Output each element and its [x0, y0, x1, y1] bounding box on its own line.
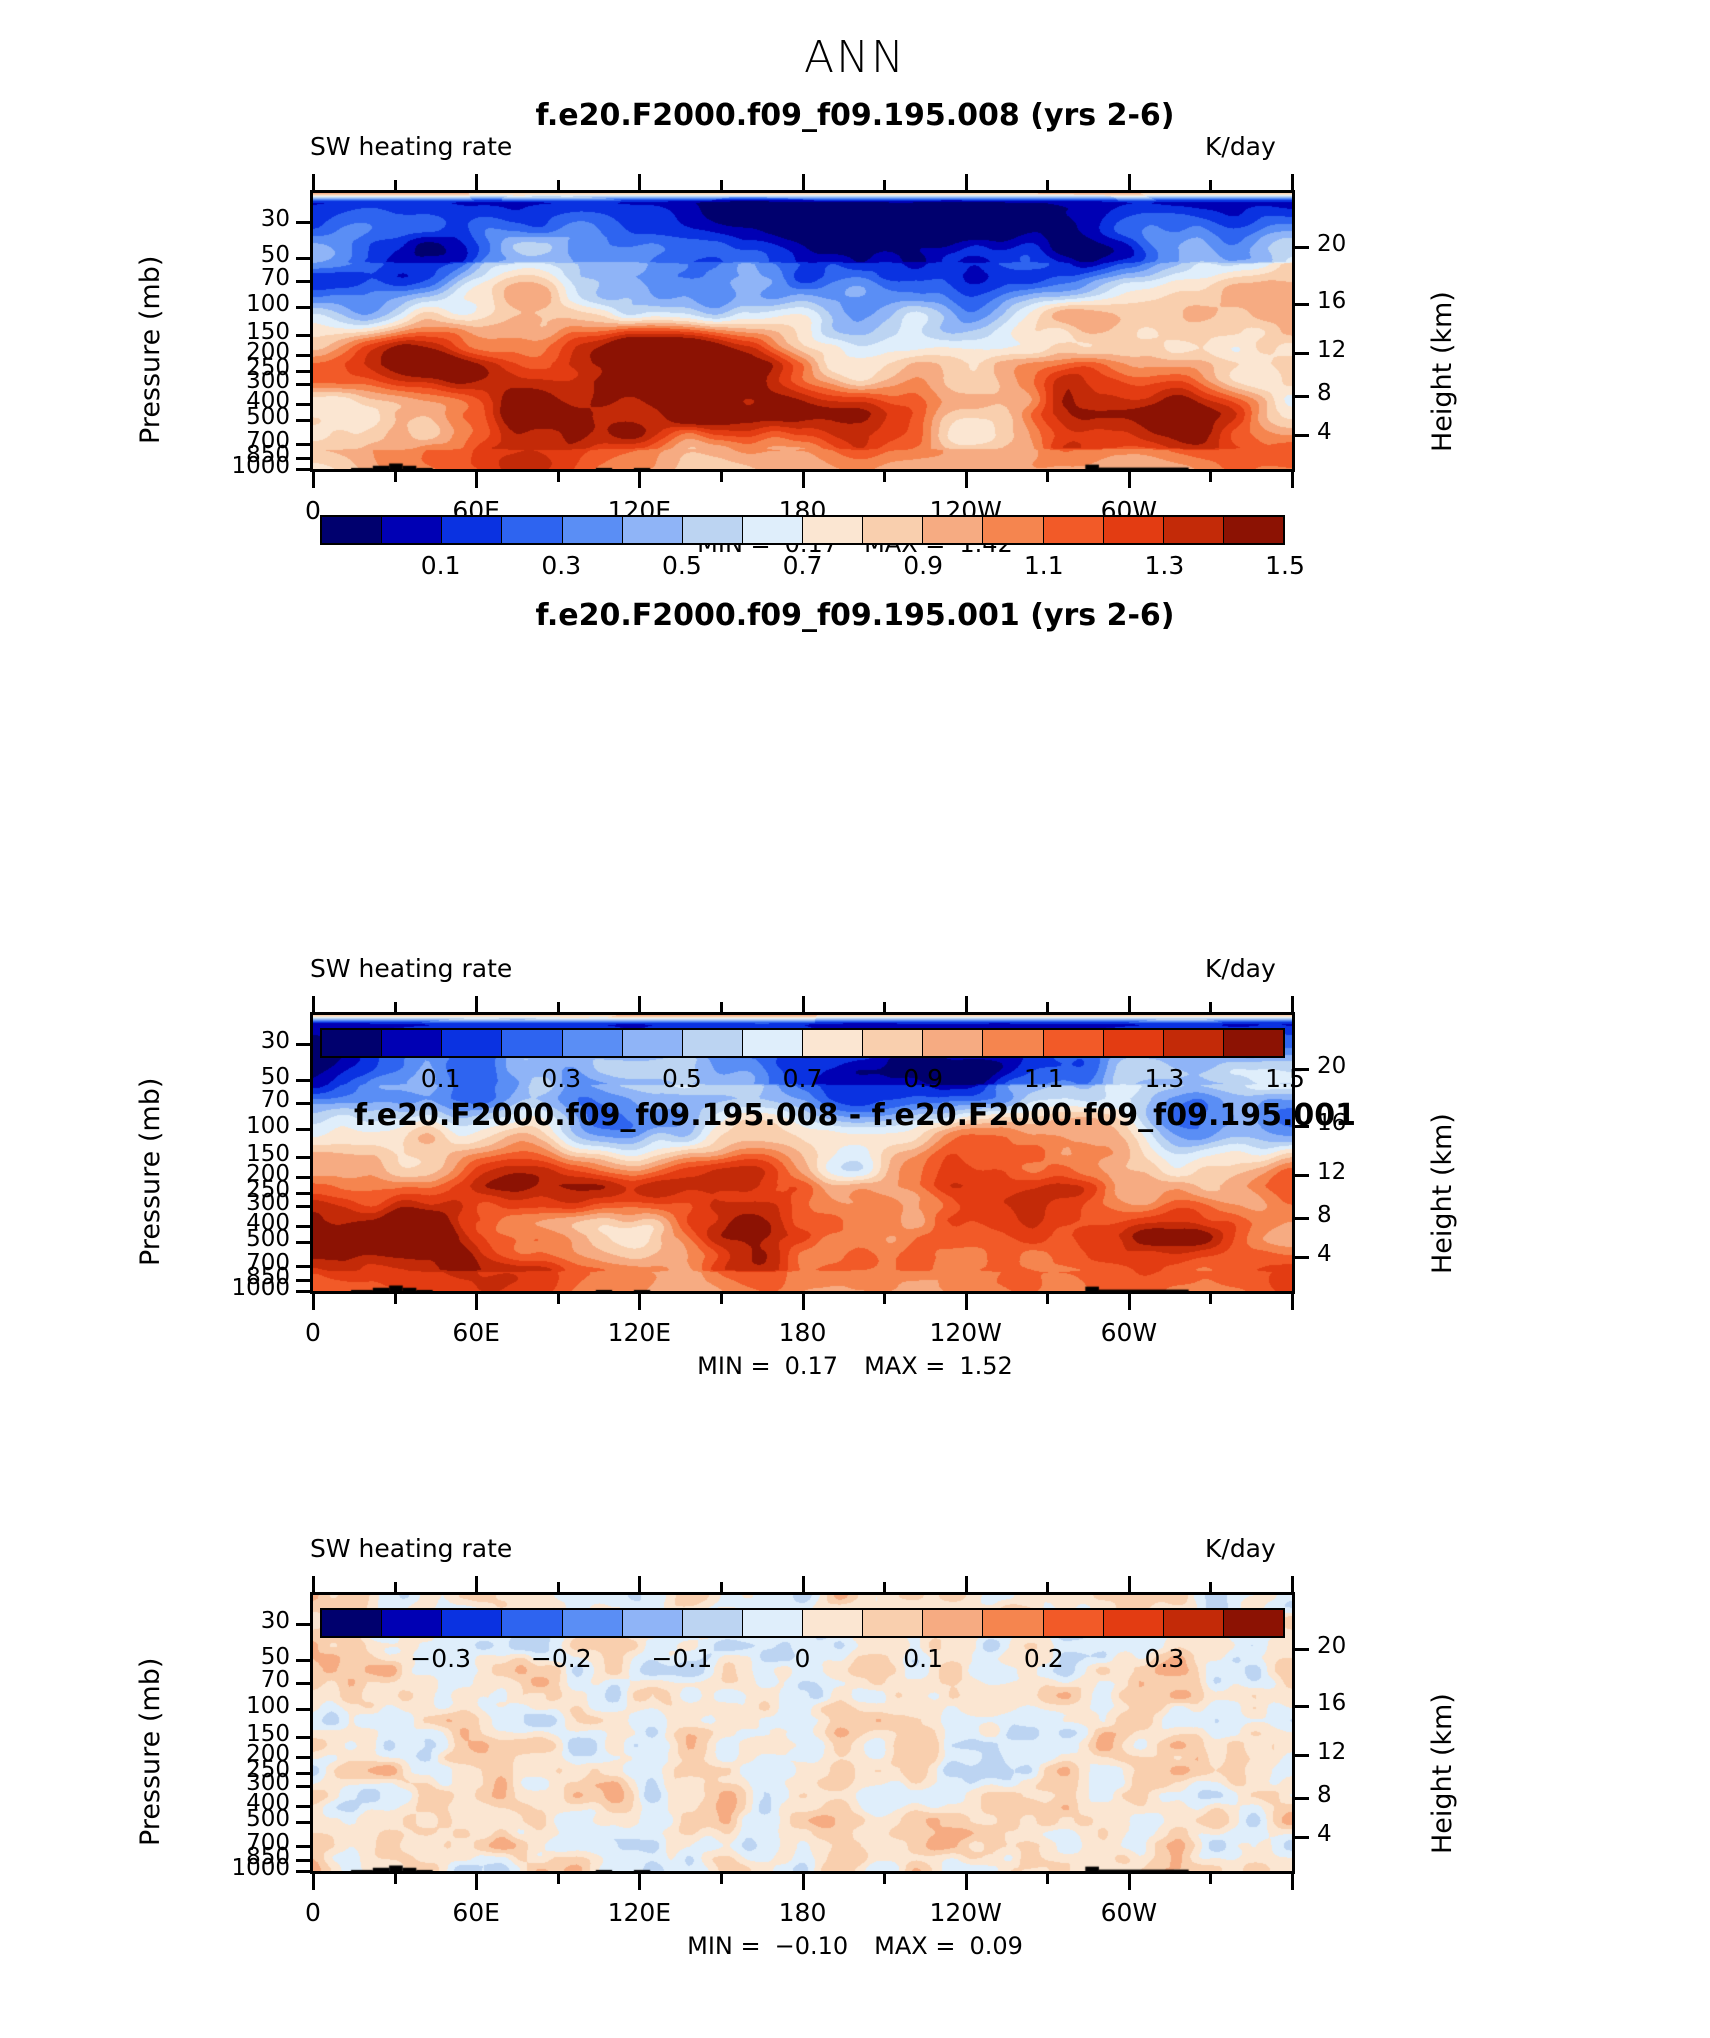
colorbar-swatch: [322, 517, 382, 543]
pressure-tick-label: 50: [160, 1064, 290, 1090]
colorbar-swatch: [1164, 517, 1224, 543]
x-tick-top: [720, 1002, 723, 1012]
height-tick: [1295, 246, 1309, 249]
x-tick-top: [720, 180, 723, 190]
x-tick-bottom: [312, 1874, 315, 1890]
height-tick-label: 8: [1317, 380, 1332, 406]
height-tick: [1295, 395, 1309, 398]
colorbar-tick-label: 0: [743, 1644, 863, 1673]
longitude-tick-label: 60W: [1059, 1318, 1199, 1347]
colorbar-swatch: [382, 517, 442, 543]
height-axis-title: Height (km): [1427, 1113, 1458, 1274]
x-tick-top: [720, 1582, 723, 1592]
colorbar-swatch: [1164, 1030, 1224, 1056]
pressure-tick-label: 1000: [160, 1275, 290, 1301]
x-tick-bottom: [1128, 1874, 1131, 1890]
x-tick-bottom: [638, 1294, 641, 1310]
x-tick-top: [312, 174, 315, 190]
x-tick-top: [802, 174, 805, 190]
colorbar-swatch: [1164, 1610, 1224, 1636]
colorbar-tick-label: −0.1: [622, 1644, 742, 1673]
colorbar-tick-label: 0.5: [622, 1064, 742, 1093]
pressure-tick: [296, 419, 310, 422]
colorbar-swatch: [563, 517, 623, 543]
longitude-tick-label: 120W: [896, 1898, 1036, 1927]
pressure-tick: [296, 1623, 310, 1626]
x-tick-bottom: [1128, 472, 1131, 488]
height-tick-label: 12: [1317, 337, 1346, 363]
x-tick-top: [1046, 180, 1049, 190]
pressure-tick: [296, 1241, 310, 1244]
max-value: 1.52: [959, 1352, 1012, 1380]
pressure-tick: [296, 1225, 310, 1228]
x-tick-bottom: [720, 472, 723, 482]
pressure-tick: [296, 1870, 310, 1873]
height-tick: [1295, 1705, 1309, 1708]
colorbar-swatch: [382, 1030, 442, 1056]
x-tick-bottom: [475, 1874, 478, 1890]
colorbar-tick-label: 1.1: [984, 551, 1104, 580]
colorbar-tick-label: 1.1: [984, 1064, 1104, 1093]
colorbar-swatch: [923, 1030, 983, 1056]
pressure-tick: [296, 383, 310, 386]
pressure-tick: [296, 1736, 310, 1739]
colorbar-swatch: [983, 517, 1043, 543]
colorbar-tick-label: 0.2: [984, 1644, 1104, 1673]
pressure-tick-label: 30: [160, 1608, 290, 1634]
x-tick-top: [638, 174, 641, 190]
variable-label: SW heating rate: [310, 132, 512, 161]
colorbar-tick-label: 1.3: [1104, 1064, 1224, 1093]
pressure-tick: [296, 1205, 310, 1208]
longitude-tick-label: 180: [733, 1898, 873, 1927]
pressure-tick: [296, 1805, 310, 1808]
x-tick-top: [883, 1002, 886, 1012]
colorbar-swatch: [502, 1610, 562, 1636]
x-tick-top: [557, 1582, 560, 1592]
units-label: K/day: [1205, 132, 1276, 161]
x-tick-bottom: [883, 1294, 886, 1304]
pressure-tick: [296, 1859, 310, 1862]
x-tick-bottom: [638, 472, 641, 488]
max-label: MAX =: [874, 1932, 955, 1960]
pressure-axis-title: Pressure (mb): [135, 256, 166, 444]
colorbar[interactable]: [320, 1608, 1285, 1638]
panel-title: f.e20.F2000.f09_f09.195.008 (yrs 2-6): [0, 98, 1710, 133]
contour-canvas: [313, 193, 1292, 469]
x-tick-bottom: [475, 1294, 478, 1310]
x-tick-top: [557, 1002, 560, 1012]
x-tick-bottom: [883, 1874, 886, 1884]
x-tick-top: [394, 1002, 397, 1012]
height-tick: [1295, 1256, 1309, 1259]
x-tick-bottom: [883, 472, 886, 482]
max-value: 0.09: [969, 1932, 1022, 1960]
longitude-tick-label: 120E: [569, 1898, 709, 1927]
colorbar-tick-label: 0.5: [622, 551, 742, 580]
figure-suptitle: ANN: [0, 32, 1710, 83]
height-tick: [1295, 352, 1309, 355]
pressure-tick-label: 30: [160, 206, 290, 232]
x-tick-top: [1291, 996, 1294, 1012]
colorbar-swatch: [1044, 1610, 1104, 1636]
pressure-tick: [296, 1290, 310, 1293]
colorbar-swatch: [923, 1610, 983, 1636]
x-tick-top: [1291, 1576, 1294, 1592]
x-tick-top: [802, 1576, 805, 1592]
x-tick-top: [1046, 1002, 1049, 1012]
panel-case-008-plot-area: [310, 190, 1295, 472]
colorbar-swatch: [863, 1610, 923, 1636]
height-tick-label: 20: [1317, 231, 1346, 257]
longitude-tick-label: 0: [243, 1898, 383, 1927]
pressure-tick: [296, 457, 310, 460]
pressure-tick-label: 50: [160, 242, 290, 268]
colorbar-tick-label: 0.1: [381, 551, 501, 580]
height-tick-label: 4: [1317, 1821, 1332, 1847]
units-label: K/day: [1205, 1534, 1276, 1563]
colorbar-swatch: [743, 517, 803, 543]
colorbar-swatch: [1044, 1030, 1104, 1056]
height-tick-label: 12: [1317, 1159, 1346, 1185]
height-tick-label: 4: [1317, 419, 1332, 445]
x-tick-bottom: [312, 1294, 315, 1310]
x-tick-top: [965, 1576, 968, 1592]
colorbar-tick-label: 0.3: [501, 551, 621, 580]
x-tick-bottom: [1291, 1294, 1294, 1310]
colorbar-swatch: [563, 1610, 623, 1636]
x-tick-bottom: [1128, 1294, 1131, 1310]
x-tick-bottom: [965, 1294, 968, 1310]
x-tick-top: [475, 996, 478, 1012]
pressure-tick: [296, 468, 310, 471]
colorbar-swatch: [683, 517, 743, 543]
colorbar-swatch: [683, 1030, 743, 1056]
x-tick-bottom: [802, 1294, 805, 1310]
pressure-tick-label: 500: [160, 404, 290, 430]
pressure-axis-title: Pressure (mb): [135, 1658, 166, 1846]
pressure-tick: [296, 280, 310, 283]
x-tick-top: [394, 1582, 397, 1592]
x-tick-top: [638, 1576, 641, 1592]
pressure-tick: [296, 1079, 310, 1082]
pressure-tick: [296, 221, 310, 224]
x-tick-bottom: [1209, 1294, 1212, 1304]
pressure-tick-label: 30: [160, 1028, 290, 1054]
x-tick-top: [1209, 1002, 1212, 1012]
colorbar-swatch: [322, 1610, 382, 1636]
x-tick-top: [1209, 180, 1212, 190]
x-tick-bottom: [312, 472, 315, 488]
x-tick-top: [965, 174, 968, 190]
colorbar-swatch: [563, 1030, 623, 1056]
x-tick-top: [1128, 174, 1131, 190]
longitude-tick-label: 60E: [406, 1898, 546, 1927]
x-tick-bottom: [965, 1874, 968, 1890]
longitude-tick-label: 60W: [1059, 1898, 1199, 1927]
x-tick-bottom: [394, 1294, 397, 1304]
height-tick-label: 20: [1317, 1633, 1346, 1659]
colorbar-swatch: [442, 1610, 502, 1636]
colorbar-swatch: [502, 517, 562, 543]
min-label: MIN =: [697, 1352, 770, 1380]
height-tick: [1295, 434, 1309, 437]
colorbar[interactable]: [320, 515, 1285, 545]
x-tick-top: [883, 1582, 886, 1592]
pressure-tick: [296, 1192, 310, 1195]
colorbar-tick-label: 0.9: [863, 551, 983, 580]
height-axis-title: Height (km): [1427, 291, 1458, 452]
colorbar-swatch: [923, 517, 983, 543]
colorbar-tick-label: 0.3: [501, 1064, 621, 1093]
pressure-tick: [296, 1156, 310, 1159]
longitude-tick-label: 180: [733, 1318, 873, 1347]
x-tick-bottom: [1046, 1294, 1049, 1304]
x-tick-bottom: [802, 1874, 805, 1890]
colorbar-tick-label: 0.7: [743, 551, 863, 580]
panel-title: f.e20.F2000.f09_f09.195.001 (yrs 2-6): [0, 598, 1710, 633]
height-tick-label: 12: [1317, 1739, 1346, 1765]
x-tick-bottom: [475, 472, 478, 488]
pressure-tick: [296, 1682, 310, 1685]
min-label: MIN =: [687, 1932, 760, 1960]
figure-root: ANN f.e20.F2000.f09_f09.195.008 (yrs 2-6…: [0, 0, 1710, 2038]
pressure-tick-label: 50: [160, 1644, 290, 1670]
colorbar-tick-label: −0.3: [381, 1644, 501, 1673]
colorbar-tick-label: −0.2: [501, 1644, 621, 1673]
colorbar-tick-label: 1.5: [1225, 551, 1345, 580]
height-tick: [1295, 1174, 1309, 1177]
height-tick: [1295, 1797, 1309, 1800]
height-tick-label: 8: [1317, 1782, 1332, 1808]
colorbar-swatch: [743, 1610, 803, 1636]
colorbar-swatch: [442, 517, 502, 543]
x-tick-bottom: [638, 1874, 641, 1890]
pressure-tick: [296, 370, 310, 373]
longitude-tick-label: 60E: [406, 1318, 546, 1347]
pressure-tick-label: 1000: [160, 1855, 290, 1881]
colorbar-swatch: [1224, 517, 1283, 543]
x-tick-top: [1209, 1582, 1212, 1592]
panel-title: f.e20.F2000.f09_f09.195.008 - f.e20.F200…: [0, 1098, 1710, 1133]
pressure-tick: [296, 1265, 310, 1268]
height-tick: [1295, 1217, 1309, 1220]
colorbar-tick-label: 0.7: [743, 1064, 863, 1093]
x-tick-bottom: [557, 1294, 560, 1304]
min-value: −0.10: [775, 1932, 849, 1960]
colorbar-tick-label: 0.9: [863, 1064, 983, 1093]
pressure-tick: [296, 1279, 310, 1282]
pressure-tick-label: 70: [160, 265, 290, 291]
x-tick-top: [475, 1576, 478, 1592]
colorbar-tick-label: 0.3: [1104, 1644, 1224, 1673]
colorbar-swatch: [1224, 1610, 1283, 1636]
x-tick-top: [312, 996, 315, 1012]
variable-label: SW heating rate: [310, 954, 512, 983]
pressure-tick: [296, 1821, 310, 1824]
x-tick-bottom: [1291, 1874, 1294, 1890]
longitude-tick-label: 0: [243, 1318, 383, 1347]
height-tick-label: 8: [1317, 1202, 1332, 1228]
pressure-tick: [296, 1176, 310, 1179]
x-tick-top: [883, 180, 886, 190]
pressure-tick: [296, 334, 310, 337]
x-tick-top: [1128, 996, 1131, 1012]
pressure-tick: [296, 306, 310, 309]
pressure-tick-label: 500: [160, 1226, 290, 1252]
x-tick-bottom: [394, 1874, 397, 1884]
x-tick-bottom: [394, 472, 397, 482]
x-tick-top: [638, 996, 641, 1012]
colorbar-swatch: [1104, 517, 1164, 543]
pressure-tick-label: 100: [160, 1693, 290, 1719]
pressure-tick: [296, 1756, 310, 1759]
height-tick: [1295, 1648, 1309, 1651]
x-tick-bottom: [557, 472, 560, 482]
x-tick-bottom: [557, 1874, 560, 1884]
x-tick-bottom: [802, 472, 805, 488]
height-tick: [1295, 1836, 1309, 1839]
colorbar-swatch: [502, 1030, 562, 1056]
colorbar-swatch: [1044, 517, 1104, 543]
x-tick-bottom: [1291, 472, 1294, 488]
x-tick-top: [394, 180, 397, 190]
pressure-tick-label: 500: [160, 1806, 290, 1832]
x-tick-top: [1046, 1582, 1049, 1592]
pressure-tick: [296, 1845, 310, 1848]
x-tick-top: [802, 996, 805, 1012]
min-max-annotation: MIN =−0.10MAX =0.09: [0, 1932, 1710, 1960]
x-tick-bottom: [720, 1294, 723, 1304]
colorbar-swatch: [983, 1030, 1043, 1056]
colorbar-tick-label: 1.5: [1225, 1064, 1345, 1093]
height-tick: [1295, 303, 1309, 306]
pressure-tick: [296, 403, 310, 406]
x-tick-top: [965, 996, 968, 1012]
colorbar[interactable]: [320, 1028, 1285, 1058]
pressure-tick: [296, 1708, 310, 1711]
x-tick-top: [1128, 1576, 1131, 1592]
pressure-tick: [296, 257, 310, 260]
colorbar-swatch: [983, 1610, 1043, 1636]
colorbar-swatch: [683, 1610, 743, 1636]
colorbar-swatch: [623, 517, 683, 543]
pressure-tick: [296, 1772, 310, 1775]
min-value: 0.17: [785, 1352, 838, 1380]
colorbar-swatch: [322, 1030, 382, 1056]
colorbar-swatch: [623, 1610, 683, 1636]
x-tick-top: [1291, 174, 1294, 190]
longitude-tick-label: 120E: [569, 1318, 709, 1347]
colorbar-swatch: [863, 1030, 923, 1056]
x-tick-top: [557, 180, 560, 190]
colorbar-swatch: [1104, 1610, 1164, 1636]
colorbar-tick-label: 1.3: [1104, 551, 1224, 580]
height-axis-title: Height (km): [1427, 1693, 1458, 1854]
pressure-tick: [296, 443, 310, 446]
min-max-annotation: MIN =0.17MAX =1.52: [0, 1352, 1710, 1380]
colorbar-swatch: [442, 1030, 502, 1056]
pressure-tick: [296, 1043, 310, 1046]
colorbar-swatch: [1104, 1030, 1164, 1056]
pressure-tick: [296, 1785, 310, 1788]
pressure-tick-label: 1000: [160, 453, 290, 479]
x-tick-bottom: [965, 472, 968, 488]
height-tick-label: 16: [1317, 288, 1346, 314]
max-label: MAX =: [864, 1352, 945, 1380]
x-tick-bottom: [1046, 472, 1049, 482]
variable-label: SW heating rate: [310, 1534, 512, 1563]
colorbar-swatch: [1224, 1030, 1283, 1056]
x-tick-bottom: [1046, 1874, 1049, 1884]
height-tick: [1295, 1754, 1309, 1757]
height-tick-label: 16: [1317, 1690, 1346, 1716]
colorbar-swatch: [863, 517, 923, 543]
colorbar-swatch: [803, 1610, 863, 1636]
colorbar-swatch: [803, 517, 863, 543]
longitude-tick-label: 120W: [896, 1318, 1036, 1347]
colorbar-swatch: [382, 1610, 442, 1636]
colorbar-swatch: [803, 1030, 863, 1056]
units-label: K/day: [1205, 954, 1276, 983]
pressure-tick: [296, 354, 310, 357]
x-tick-top: [312, 1576, 315, 1592]
x-tick-bottom: [1209, 1874, 1212, 1884]
colorbar-tick-label: 0.1: [381, 1064, 501, 1093]
x-tick-top: [475, 174, 478, 190]
x-tick-bottom: [1209, 472, 1212, 482]
colorbar-tick-label: 0.1: [863, 1644, 983, 1673]
pressure-tick-label: 100: [160, 291, 290, 317]
x-tick-bottom: [720, 1874, 723, 1884]
height-tick-label: 4: [1317, 1241, 1332, 1267]
pressure-tick: [296, 1659, 310, 1662]
colorbar-swatch: [743, 1030, 803, 1056]
pressure-tick-label: 70: [160, 1667, 290, 1693]
colorbar-swatch: [623, 1030, 683, 1056]
